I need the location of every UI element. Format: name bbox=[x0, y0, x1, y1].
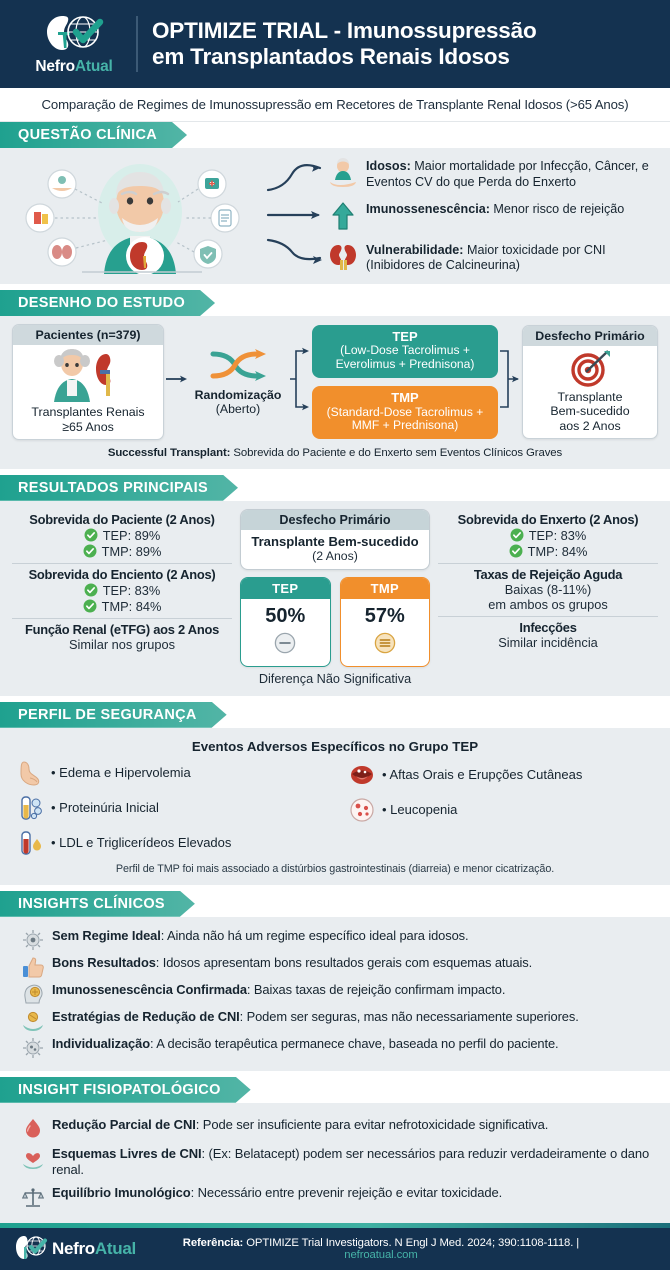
hand-pill-icon bbox=[22, 1010, 44, 1032]
panel-study-design: Pacientes (n=379) bbox=[0, 316, 670, 469]
swollen-foot-icon bbox=[18, 760, 44, 786]
comparison-caption: Diferença Não Significativa bbox=[240, 672, 430, 686]
comparison-card-tmp-header: TMP bbox=[341, 578, 430, 599]
list-item-text: Sem Regime Ideal: Ainda não há um regime… bbox=[52, 928, 468, 944]
shuffle-arrows-icon bbox=[209, 347, 267, 383]
list-item-text: • LDL e Triglicerídeos Elevados bbox=[51, 835, 231, 850]
kidney-globe-check-logo-icon bbox=[14, 1234, 48, 1264]
banner-wrap-physio-insight: INSIGHT FISIOPATOLÓGICO bbox=[0, 1077, 670, 1103]
page-title-line2: em Transplantados Renais Idosos bbox=[152, 44, 536, 70]
list-item-text: Idosos: Maior mortalidade por Infecção, … bbox=[366, 158, 658, 190]
comparison-card-tep: TEP 50% bbox=[240, 577, 331, 667]
item-text: : Podem ser seguras, mas não necessariam… bbox=[240, 1009, 579, 1024]
result-title: Sobrevida do Paciente (2 Anos) bbox=[12, 512, 232, 527]
item-label: Individualização bbox=[52, 1036, 150, 1051]
item-label: Vulnerabilidade: bbox=[366, 243, 464, 257]
arrow-to-randomization bbox=[166, 372, 188, 391]
section-safety-profile: PERFIL DE SEGURANÇA Eventos Adversos Esp… bbox=[0, 702, 670, 885]
check-circle-icon bbox=[84, 583, 98, 597]
primary-outcome-card-body: Transplante Bem-sucedido (2 Anos) bbox=[241, 530, 429, 569]
elderly-patient-kidney-illustration-icon bbox=[12, 156, 262, 274]
group-tmp-name: TMP bbox=[318, 391, 492, 406]
list-item: Redução Parcial de CNI: Pode ser insufic… bbox=[22, 1117, 650, 1140]
panel-main-results: Sobrevida do Paciente (2 Anos) TEP: 89% … bbox=[0, 501, 670, 696]
item-label: Idosos: bbox=[366, 159, 411, 173]
footer-brand-part1: Nefro bbox=[52, 1239, 95, 1258]
section-clinical-insights: INSIGHTS CLÍNICOS Sem Regime Ideal: Aind… bbox=[0, 891, 670, 1071]
section-main-results: RESULTADOS PRINCIPAIS Sobrevida do Pacie… bbox=[0, 475, 670, 696]
group-tep-description: (Low-Dose Tacrolimus + Everolimus + Pred… bbox=[318, 344, 492, 372]
list-item: Imunossenescência: Menor risco de rejeiç… bbox=[328, 201, 658, 231]
page-header: NefroAtual OPTIMIZE TRIAL - Imunossupres… bbox=[0, 0, 670, 88]
outcome-box-header: Desfecho Primário bbox=[523, 326, 657, 346]
patients-box-body: Transplantes Renais ≥65 Anos bbox=[13, 345, 163, 439]
item-label: Esquemas Livres de CNI bbox=[52, 1146, 202, 1161]
result-item-text: TEP: 83% bbox=[103, 583, 161, 598]
safety-title: Eventos Adversos Específicos no Grupo TE… bbox=[12, 739, 658, 754]
result-item: TMP: 89% bbox=[12, 544, 232, 559]
list-item: Equilíbrio Imunológico: Necessário entre… bbox=[22, 1185, 650, 1208]
brain-head-icon bbox=[22, 983, 44, 1005]
comparison-card-tep-body: 50% bbox=[241, 599, 330, 666]
patients-box-header: Pacientes (n=379) bbox=[13, 325, 163, 345]
blood-drop-icon bbox=[22, 1118, 44, 1140]
balance-scale-icon bbox=[22, 1186, 44, 1208]
safety-right-items: • Aftas Orais e Erupções Cutâneas • Leuc… bbox=[327, 760, 652, 856]
item-text: : Baixas taxas de rejeição confirmam imp… bbox=[247, 982, 505, 997]
page-title: OPTIMIZE TRIAL - Imunossupressão em Tran… bbox=[152, 18, 536, 71]
blood-lipid-tube-icon bbox=[18, 830, 44, 856]
item-text: Menor risco de rejeição bbox=[490, 202, 624, 216]
list-item: Vulnerabilidade: Maior toxicidade por CN… bbox=[328, 242, 658, 274]
result-title: Infecções bbox=[438, 620, 658, 635]
clinical-question-items: Idosos: Maior mortalidade por Infecção, … bbox=[328, 156, 658, 273]
check-circle-icon bbox=[83, 599, 97, 613]
list-item: • Aftas Orais e Erupções Cutâneas bbox=[349, 762, 652, 788]
result-item-text: TMP: 84% bbox=[102, 599, 162, 614]
virus-cell-icon bbox=[22, 1037, 44, 1059]
comparison-card-tmp: TMP 57% bbox=[340, 577, 431, 667]
study-design-note-label: Successful Transplant: bbox=[108, 447, 231, 459]
list-item: • Edema e Hipervolemia bbox=[18, 760, 321, 786]
section-clinical-question: QUESTÃO CLÍNICA bbox=[0, 122, 670, 284]
list-item-text: Vulnerabilidade: Maior toxicidade por CN… bbox=[366, 242, 658, 274]
item-text: : Ainda não há um regime específico idea… bbox=[161, 928, 469, 943]
check-circle-icon bbox=[83, 544, 97, 558]
result-subtext: Similar incidência bbox=[438, 635, 658, 650]
group-tmp-description: (Standard-Dose Tacrolimus + MMF + Predni… bbox=[318, 406, 492, 434]
footer-brand-part2: Atual bbox=[95, 1239, 136, 1258]
panel-physio-insight: Redução Parcial de CNI: Pode ser insufic… bbox=[0, 1103, 670, 1223]
item-label: Imunossenescência: bbox=[366, 202, 490, 216]
header-divider bbox=[136, 16, 138, 72]
panel-clinical-insights: Sem Regime Ideal: Ainda não há um regime… bbox=[0, 917, 670, 1071]
study-groups: TEP (Low-Dose Tacrolimus + Everolimus + … bbox=[312, 325, 498, 440]
footer-reference-text: OPTIMIZE Trial Investigators. N Engl J M… bbox=[243, 1237, 579, 1249]
list-item-text: • Proteinúria Inicial bbox=[51, 800, 159, 815]
result-subtext: Similar nos grupos bbox=[12, 637, 232, 652]
white-blood-cells-icon bbox=[349, 797, 375, 823]
section-banner-study-design: DESENHO DO ESTUDO bbox=[0, 290, 215, 316]
comparison-card-tep-value: 50% bbox=[245, 605, 326, 628]
flow-arrows-icon bbox=[266, 156, 324, 274]
target-arrow-icon bbox=[568, 349, 612, 387]
list-item-text: • Aftas Orais e Erupções Cutâneas bbox=[382, 767, 582, 782]
item-text: : Necessário entre prevenir rejeição e e… bbox=[191, 1185, 503, 1200]
result-block: Infecções Similar incidência bbox=[438, 616, 658, 654]
list-item: Individualização: A decisão terapêutica … bbox=[22, 1036, 650, 1059]
list-item: • Leucopenia bbox=[349, 797, 652, 823]
primary-outcome-card: Desfecho Primário Transplante Bem-sucedi… bbox=[240, 509, 430, 570]
item-label: Equilíbrio Imunológico bbox=[52, 1185, 191, 1200]
result-item-text: TMP: 89% bbox=[102, 544, 162, 559]
group-tep-name: TEP bbox=[318, 330, 492, 345]
list-item: Imunossenescência Confirmada: Baixas tax… bbox=[22, 982, 650, 1005]
item-text: : A decisão terapêutica permanece chave,… bbox=[150, 1036, 559, 1051]
result-item-text: TEP: 89% bbox=[103, 528, 161, 543]
banner-wrap-clinical-question: QUESTÃO CLÍNICA bbox=[0, 122, 670, 148]
group-tep: TEP (Low-Dose Tacrolimus + Everolimus + … bbox=[312, 325, 498, 378]
result-title: Taxas de Rejeição Aguda bbox=[438, 567, 658, 582]
footer-brand-logo: NefroAtual bbox=[14, 1234, 136, 1264]
result-title: Sobrevida do Enciento (2 Anos) bbox=[12, 567, 232, 582]
up-arrow-icon bbox=[328, 201, 358, 231]
page-title-line1: OPTIMIZE TRIAL - Imunossupressão bbox=[152, 18, 536, 44]
primary-outcome-box: Desfecho Primário Transplante Bem-sucedi… bbox=[522, 325, 658, 439]
comparison-card-tep-header: TEP bbox=[241, 578, 330, 599]
result-block: Sobrevida do Paciente (2 Anos) TEP: 89% … bbox=[12, 509, 232, 563]
check-circle-icon bbox=[84, 528, 98, 542]
primary-outcome-card-header: Desfecho Primário bbox=[241, 510, 429, 530]
list-item-text: Equilíbrio Imunológico: Necessário entre… bbox=[52, 1185, 502, 1201]
kidneys-icon bbox=[328, 242, 358, 272]
list-item-text: • Edema e Hipervolemia bbox=[51, 765, 191, 780]
result-block: Taxas de Rejeição Aguda Baixas (8-11%) e… bbox=[438, 563, 658, 617]
result-item: TEP: 83% bbox=[12, 583, 232, 598]
patients-line1: Transplantes Renais bbox=[19, 405, 157, 419]
result-item: TMP: 84% bbox=[12, 599, 232, 614]
item-label: Estratégias de Redução de CNI bbox=[52, 1009, 240, 1024]
minus-circle-icon bbox=[274, 632, 296, 654]
equals-circle-icon-wrap bbox=[345, 632, 426, 659]
randomization-subtitle: (Aberto) bbox=[216, 402, 260, 416]
check-circle-icon bbox=[510, 528, 524, 542]
result-item: TMP: 84% bbox=[438, 544, 658, 559]
list-item: Sem Regime Ideal: Ainda não há um regime… bbox=[22, 928, 650, 951]
section-banner-safety: PERFIL DE SEGURANÇA bbox=[0, 702, 227, 728]
physio-insight-list: Redução Parcial de CNI: Pode ser insufic… bbox=[12, 1111, 658, 1213]
result-item: TEP: 83% bbox=[438, 528, 658, 543]
footer-reference: Referência: OPTIMIZE Trial Investigators… bbox=[146, 1237, 656, 1261]
result-block: Sobrevida do Enxerto (2 Anos) TEP: 83% T… bbox=[438, 509, 658, 563]
outcome-line1: Transplante bbox=[529, 390, 651, 404]
list-item: Esquemas Livres de CNI: (Ex: Belatacept)… bbox=[22, 1146, 650, 1179]
randomization-block: Randomização (Aberto) bbox=[190, 347, 286, 417]
list-item: • LDL e Triglicerídeos Elevados bbox=[18, 830, 321, 856]
results-left-column: Sobrevida do Paciente (2 Anos) TEP: 89% … bbox=[12, 509, 232, 656]
result-block: Função Renal (eTFG) aos 2 Anos Similar n… bbox=[12, 618, 232, 656]
primary-outcome-sub: (2 Anos) bbox=[245, 549, 425, 563]
list-item-text: Individualização: A decisão terapêutica … bbox=[52, 1036, 559, 1052]
list-item: Bons Resultados: Idosos apresentam bons … bbox=[22, 955, 650, 978]
patients-line2: ≥65 Anos bbox=[19, 420, 157, 434]
section-banner-physio-insight: INSIGHT FISIOPATOLÓGICO bbox=[0, 1077, 251, 1103]
list-item-text: Imunossenescência Confirmada: Baixas tax… bbox=[52, 982, 505, 998]
safety-left-items: • Edema e Hipervolemia • Proteinúria Ini… bbox=[18, 760, 321, 856]
thumbs-up-icon bbox=[22, 956, 44, 978]
banner-wrap-study-design: DESENHO DO ESTUDO bbox=[0, 290, 670, 316]
list-item: Estratégias de Redução de CNI: Podem ser… bbox=[22, 1009, 650, 1032]
brace-merge bbox=[500, 329, 520, 434]
minus-circle-icon-wrap bbox=[245, 632, 326, 659]
comparison-card-tmp-body: 57% bbox=[341, 599, 430, 666]
section-banner-main-results: RESULTADOS PRINCIPAIS bbox=[0, 475, 238, 501]
item-label: Sem Regime Ideal bbox=[52, 928, 161, 943]
result-item-text: TEP: 83% bbox=[529, 528, 587, 543]
item-label: Bons Resultados bbox=[52, 955, 156, 970]
page-footer: NefroAtual Referência: OPTIMIZE Trial In… bbox=[0, 1228, 670, 1270]
result-item: TEP: 89% bbox=[12, 528, 232, 543]
result-block: Sobrevida do Enciento (2 Anos) TEP: 83% … bbox=[12, 563, 232, 618]
list-item-text: • Leucopenia bbox=[382, 802, 457, 817]
virus-gear-icon bbox=[22, 929, 44, 951]
footer-brand-name: NefroAtual bbox=[52, 1239, 136, 1259]
result-item-text: TMP: 84% bbox=[528, 544, 588, 559]
randomization-title: Randomização bbox=[195, 388, 282, 402]
kidney-globe-check-logo-icon bbox=[39, 12, 109, 56]
item-label: Imunossenescência Confirmada bbox=[52, 982, 247, 997]
check-circle-icon bbox=[509, 544, 523, 558]
study-design-note-text: Sobrevida do Paciente e do Enxerto sem E… bbox=[230, 447, 562, 459]
brand-name-part2: Atual bbox=[75, 58, 113, 75]
brace-split bbox=[288, 329, 310, 434]
list-item-text: Bons Resultados: Idosos apresentam bons … bbox=[52, 955, 532, 971]
clinical-insights-list: Sem Regime Ideal: Ainda não há um regime… bbox=[12, 925, 658, 1061]
item-text: : Pode ser insuficiente para evitar nefr… bbox=[196, 1117, 549, 1132]
comparison-cards: TEP 50% bbox=[240, 577, 430, 667]
equals-circle-icon bbox=[374, 632, 396, 654]
brand-name-part1: Nefro bbox=[35, 58, 74, 75]
safety-note: Perfil de TMP foi mais associado a distú… bbox=[12, 863, 658, 875]
list-item-text: Redução Parcial de CNI: Pode ser insufic… bbox=[52, 1117, 548, 1133]
group-tmp: TMP (Standard-Dose Tacrolimus + MMF + Pr… bbox=[312, 386, 498, 439]
list-item: Idosos: Maior mortalidade por Infecção, … bbox=[328, 158, 658, 190]
footer-reference-label: Referência: bbox=[183, 1237, 243, 1249]
section-physio-insight: INSIGHT FISIOPATOLÓGICO Redução Parcial … bbox=[0, 1077, 670, 1223]
list-item-text: Estratégias de Redução de CNI: Podem ser… bbox=[52, 1009, 579, 1025]
result-title: Sobrevida do Enxerto (2 Anos) bbox=[438, 512, 658, 527]
list-item-text: Imunossenescência: Menor risco de rejeiç… bbox=[366, 201, 624, 217]
item-text: : Idosos apresentam bons resultados gera… bbox=[156, 955, 532, 970]
brand-logo: NefroAtual bbox=[18, 12, 130, 76]
item-label: Redução Parcial de CNI bbox=[52, 1117, 196, 1132]
outcome-line3: aos 2 Anos bbox=[529, 419, 651, 433]
section-banner-clinical-question: QUESTÃO CLÍNICA bbox=[0, 122, 187, 148]
patients-box: Pacientes (n=379) bbox=[12, 324, 164, 440]
randomization-label: Randomização (Aberto) bbox=[190, 389, 286, 417]
panel-clinical-question: Idosos: Maior mortalidade por Infecção, … bbox=[0, 148, 670, 284]
elderly-woman-kidney-icon bbox=[42, 348, 134, 402]
list-item: • Proteinúria Inicial bbox=[18, 795, 321, 821]
mouth-ulcer-icon bbox=[349, 762, 375, 788]
urine-test-tube-icon bbox=[18, 795, 44, 821]
banner-wrap-clinical-insights: INSIGHTS CLÍNICOS bbox=[0, 891, 670, 917]
heart-hand-icon bbox=[22, 1147, 44, 1169]
brand-name: NefroAtual bbox=[35, 58, 112, 76]
results-middle-column: Desfecho Primário Transplante Bem-sucedi… bbox=[240, 509, 430, 686]
subtitle-text: Comparação de Regimes de Imunossupressão… bbox=[42, 97, 629, 112]
subtitle-bar: Comparação de Regimes de Imunossupressão… bbox=[0, 88, 670, 122]
section-banner-clinical-insights: INSIGHTS CLÍNICOS bbox=[0, 891, 195, 917]
result-title: Função Renal (eTFG) aos 2 Anos bbox=[12, 622, 232, 637]
results-right-column: Sobrevida do Enxerto (2 Anos) TEP: 83% T… bbox=[438, 509, 658, 655]
outcome-line2: Bem-sucedido bbox=[529, 404, 651, 418]
section-study-design: DESENHO DO ESTUDO Pacientes (n=379) bbox=[0, 290, 670, 469]
comparison-card-tmp-value: 57% bbox=[345, 605, 426, 628]
banner-wrap-safety: PERFIL DE SEGURANÇA bbox=[0, 702, 670, 728]
infographic-page: NefroAtual OPTIMIZE TRIAL - Imunossupres… bbox=[0, 0, 670, 1270]
study-design-note: Successful Transplant: Sobrevida do Paci… bbox=[12, 447, 658, 459]
result-subtext: Baixas (8-11%) em ambos os grupos bbox=[438, 582, 658, 613]
banner-wrap-main-results: RESULTADOS PRINCIPAIS bbox=[0, 475, 670, 501]
outcome-box-body: Transplante Bem-sucedido aos 2 Anos bbox=[523, 346, 657, 438]
footer-site-link[interactable]: nefroatual.com bbox=[344, 1249, 417, 1261]
panel-safety: Eventos Adversos Específicos no Grupo TE… bbox=[0, 728, 670, 885]
primary-outcome-main: Transplante Bem-sucedido bbox=[245, 534, 425, 549]
elderly-hand-care-icon bbox=[328, 158, 358, 188]
list-item-text: Esquemas Livres de CNI: (Ex: Belatacept)… bbox=[52, 1146, 650, 1179]
